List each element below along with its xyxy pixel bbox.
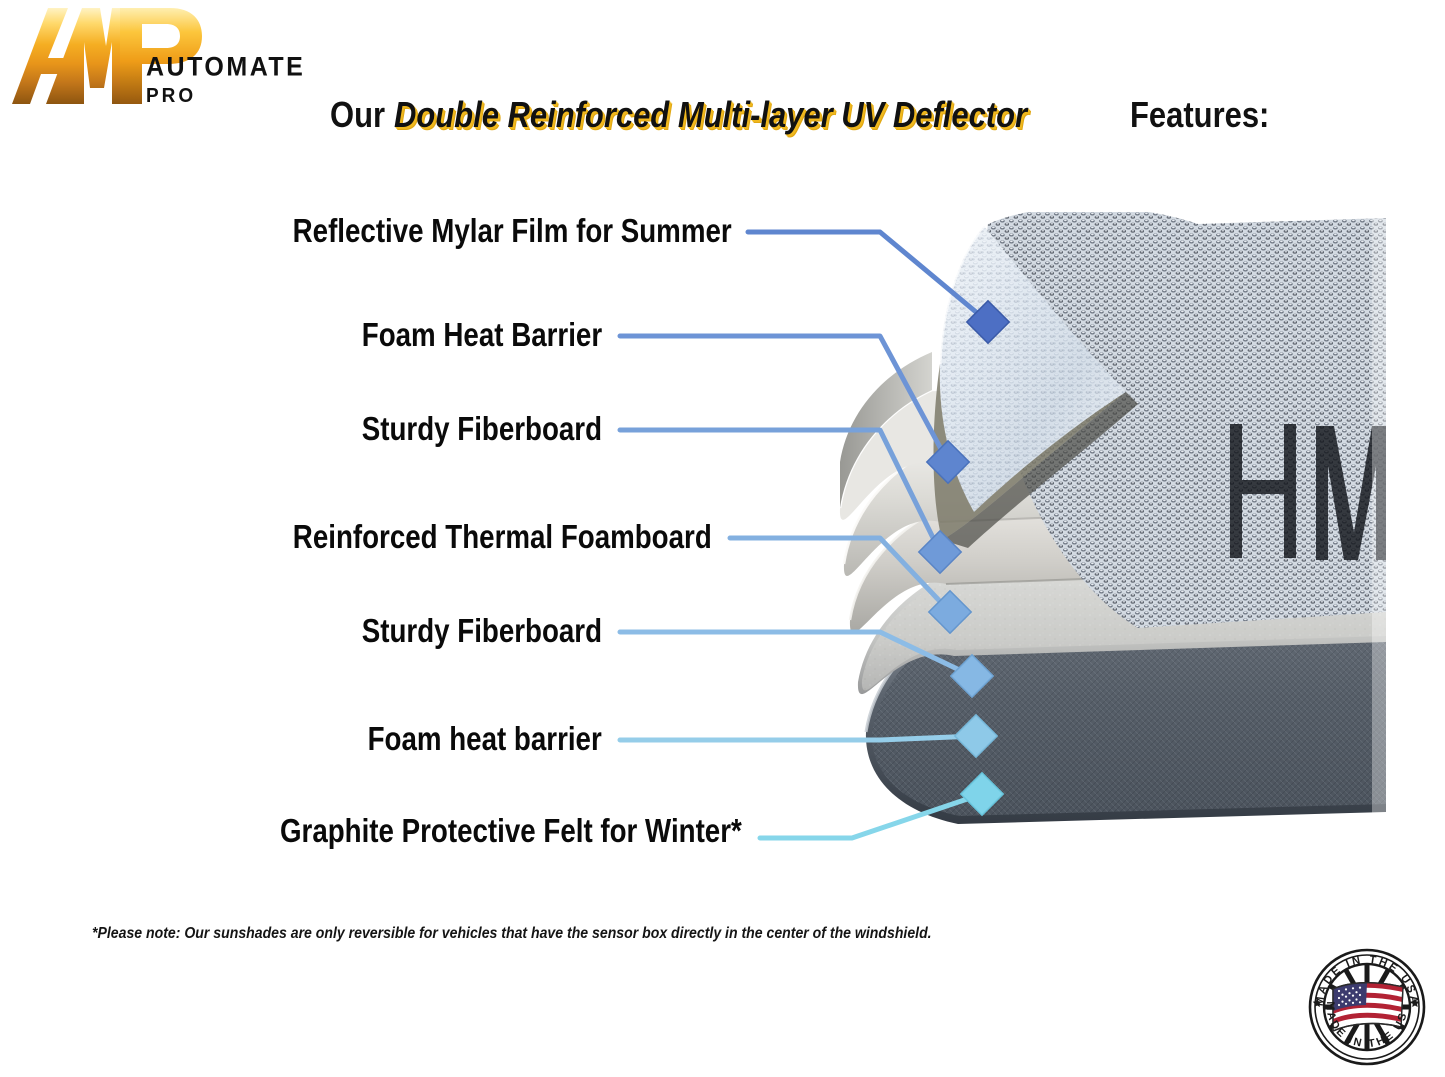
brand-wordmark: AUTOMATE PRO — [146, 54, 326, 112]
wordmark-pro: PRO — [146, 86, 326, 107]
usa-flag-icon — [1333, 983, 1403, 1031]
layer-label-2: Foam Heat Barrier — [362, 318, 602, 351]
layer-label-7: Graphite Protective Felt for Winter* — [280, 814, 742, 847]
layer-label-5: Sturdy Fiberboard — [362, 614, 602, 647]
made-in-usa-stamp: MADE IN THE USA MADE IN THE USA — [1307, 947, 1427, 1067]
product-illustration — [838, 212, 1386, 852]
layer-label-1: Reflective Mylar Film for Summer — [293, 214, 732, 247]
layer-label-4: Reinforced Thermal Foamboard — [293, 520, 712, 553]
infographic-page: AUTOMATE PRO Our Double Reinforced Multi… — [0, 0, 1445, 1077]
title-emphasis: Double Reinforced Multi-layer UV Deflect… — [394, 94, 1027, 136]
title-suffix: Features: — [1130, 94, 1269, 136]
product-photo-cutaway — [838, 212, 1386, 852]
layer-label-3: Sturdy Fiberboard — [362, 412, 602, 445]
made-in-usa-badge: MADE IN THE USA MADE IN THE USA — [1307, 947, 1427, 1067]
page-title: Our Double Reinforced Multi-layer UV Def… — [330, 94, 1120, 140]
footnote-text: *Please note: Our sunshades are only rev… — [92, 925, 932, 943]
layer-label-6: Foam heat barrier — [368, 722, 602, 755]
brand-logo: AUTOMATE PRO — [8, 2, 328, 122]
wordmark-automate: AUTOMATE — [146, 54, 326, 81]
title-prefix: Our — [330, 94, 385, 136]
